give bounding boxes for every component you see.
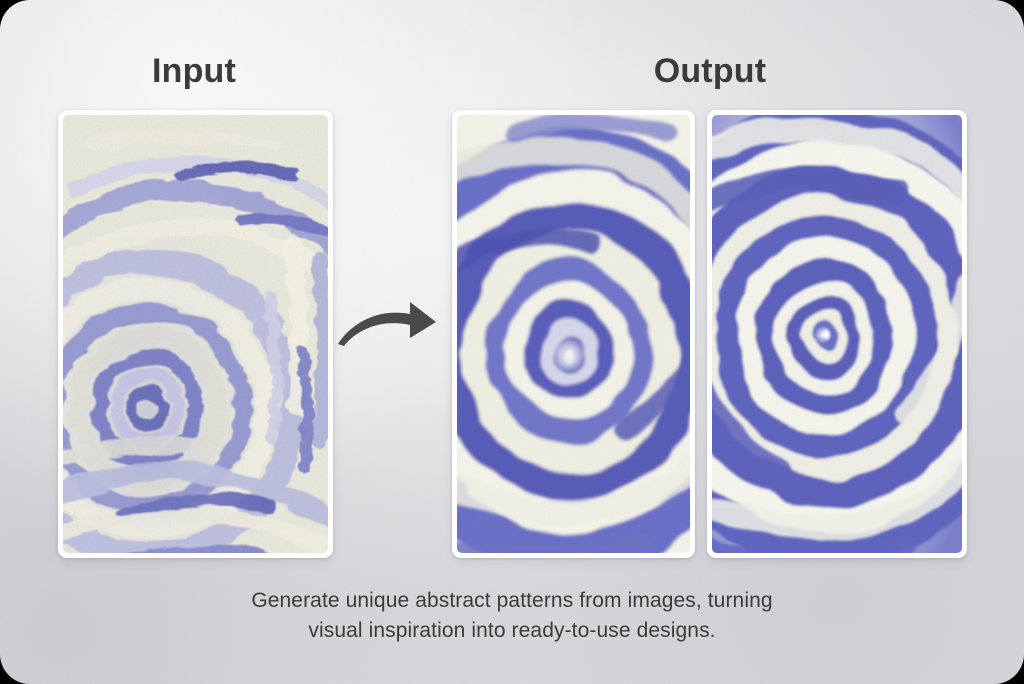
promo-card: Input Output <box>0 0 1024 684</box>
content-stage: Input Output <box>0 0 1024 684</box>
output-artwork-1-canvas <box>457 115 690 553</box>
output-section-title: Output <box>654 52 767 91</box>
input-image-frame[interactable] <box>58 110 333 558</box>
curved-arrow-right-icon <box>336 292 440 348</box>
input-section-title: Input <box>152 52 236 91</box>
output-image-frame-2[interactable] <box>707 110 967 558</box>
caption-block: Generate unique abstract patterns from i… <box>0 586 1024 646</box>
output-artwork-2-canvas <box>712 115 962 553</box>
caption-line-1: Generate unique abstract patterns from i… <box>0 586 1024 616</box>
output-image-frame-1[interactable] <box>452 110 695 558</box>
caption-line-2: visual inspiration into ready-to-use des… <box>0 616 1024 646</box>
input-artwork-canvas <box>63 115 328 553</box>
